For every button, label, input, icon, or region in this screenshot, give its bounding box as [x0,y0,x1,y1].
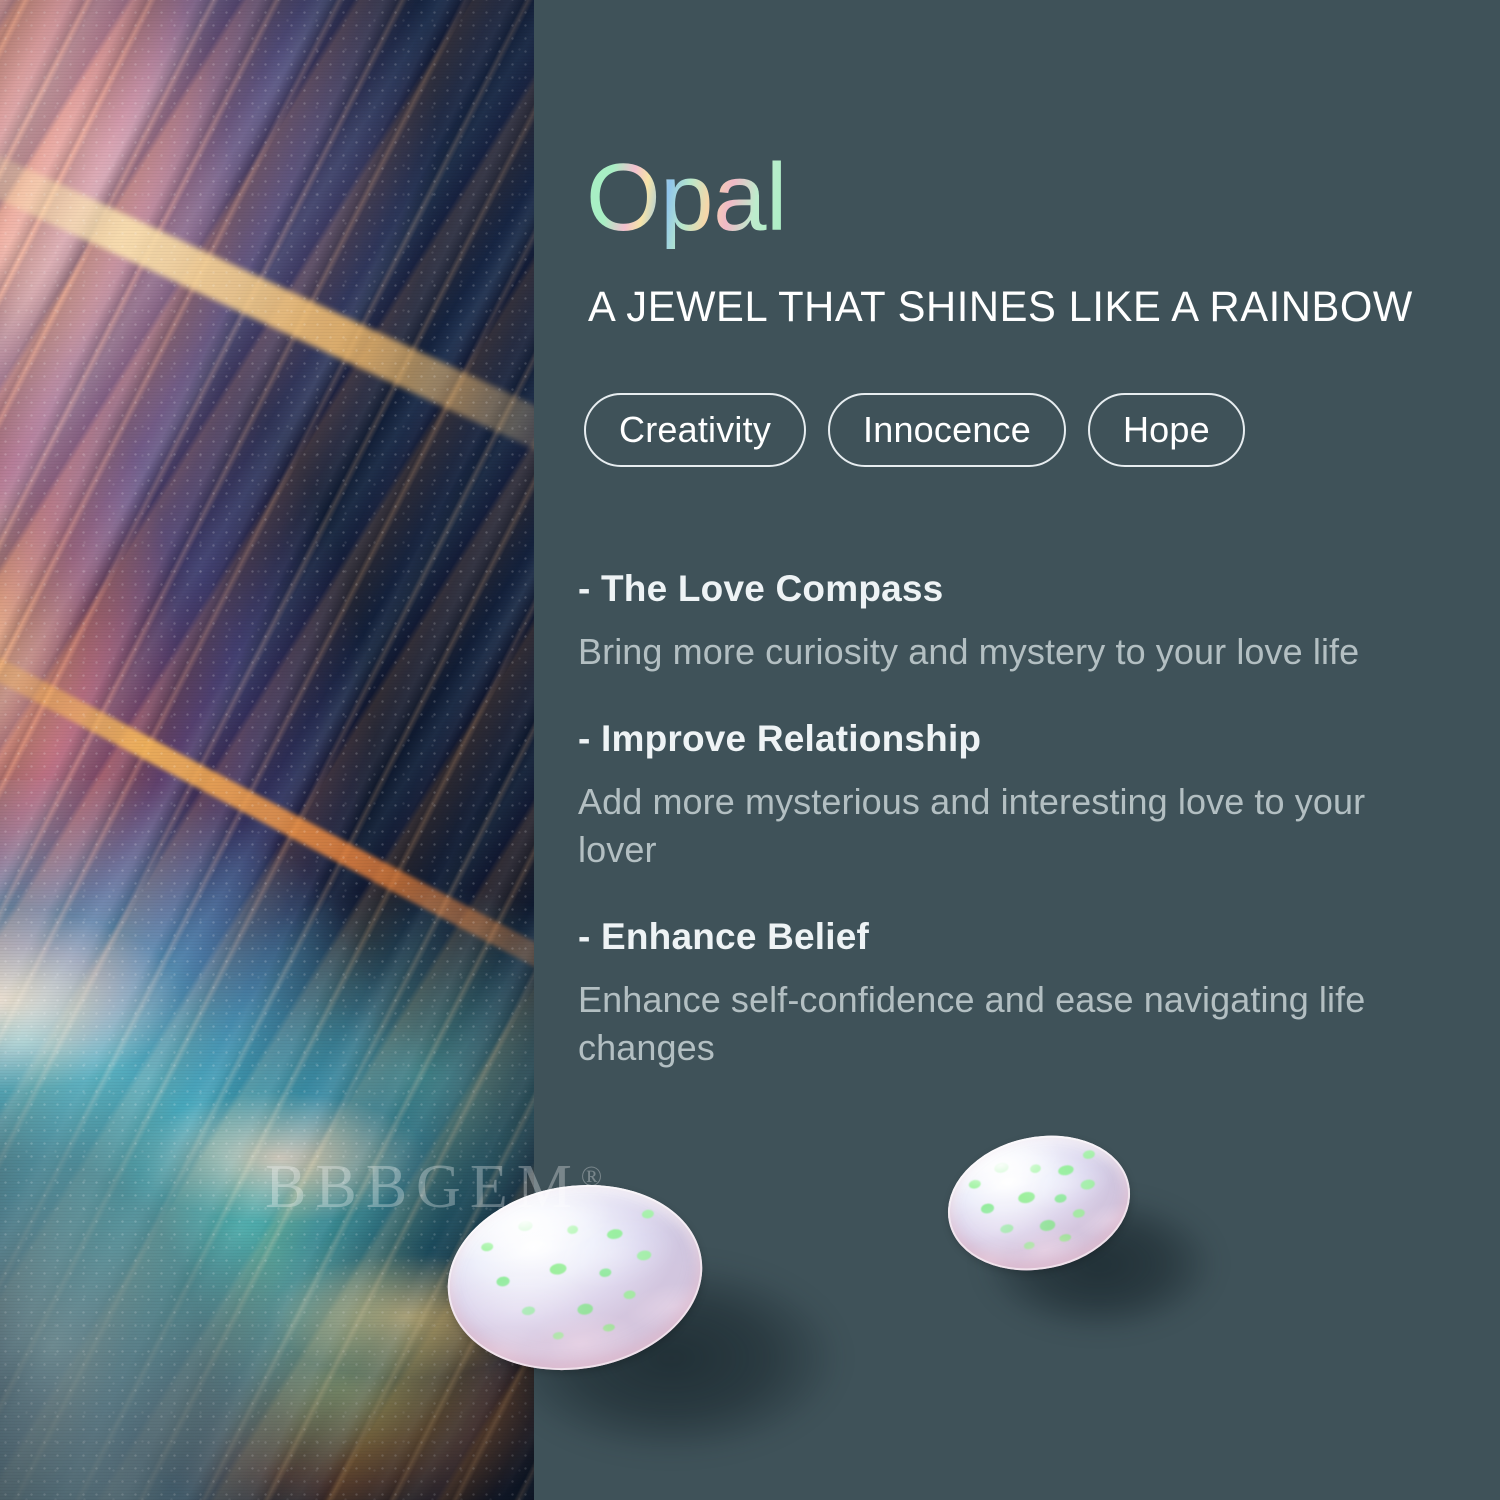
badge-hope[interactable]: Hope [1088,393,1245,467]
badge-label: Innocence [863,409,1031,451]
large-opal-gem [447,1186,867,1486]
page-subtitle: A JEWEL THAT SHINES LIKE A RAINBOW [588,283,1413,332]
benefit-title: - The Love Compass [578,568,1458,610]
badge-label: Hope [1123,409,1210,451]
benefit-item-improve-relationship: - Improve Relationship Add more mysterio… [578,718,1458,874]
benefit-description: Enhance self-confidence and ease navigat… [578,976,1408,1072]
benefit-title: - Improve Relationship [578,718,1458,760]
benefit-item-love-compass: - The Love Compass Bring more curiosity … [578,568,1458,676]
badge-innocence[interactable]: Innocence [828,393,1066,467]
opal-product-poster: Opal A JEWEL THAT SHINES LIKE A RAINBOW … [0,0,1500,1500]
small-opal-gem [947,1137,1257,1367]
benefit-title: - Enhance Belief [578,916,1458,958]
benefit-item-enhance-belief: - Enhance Belief Enhance self-confidence… [578,916,1458,1072]
page-title: Opal [586,148,787,249]
attribute-badge-group: Creativity Innocence Hope [584,393,1245,467]
badge-label: Creativity [619,409,771,451]
benefit-description: Bring more curiosity and mystery to your… [578,628,1408,676]
benefit-list: - The Love Compass Bring more curiosity … [578,568,1458,1071]
benefit-description: Add more mysterious and interesting love… [578,778,1408,874]
badge-creativity[interactable]: Creativity [584,393,806,467]
